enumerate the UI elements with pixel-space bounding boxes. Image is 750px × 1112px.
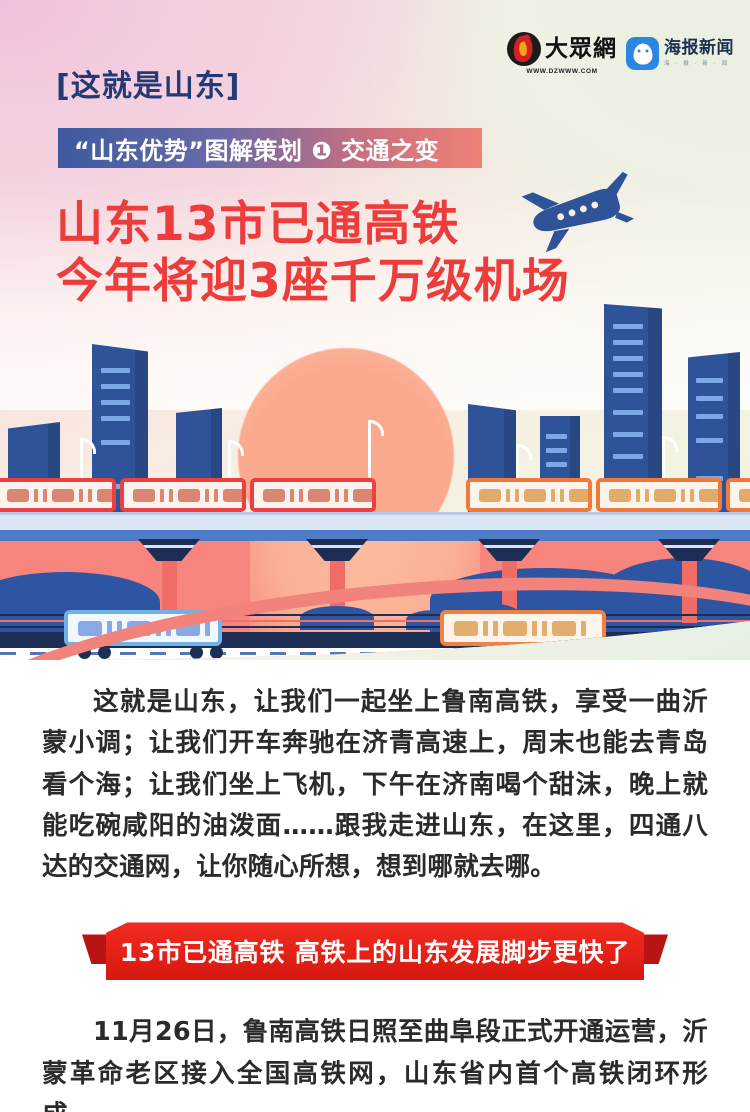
train-car (466, 478, 592, 512)
paragraph-news: 11月26日，鲁南高铁日照至曲阜段正式开通运营，沂蒙革命老区接入全国高铁网，山东… (42, 1012, 708, 1112)
seal-app-icon (626, 37, 659, 70)
flame-circle-icon (507, 32, 541, 66)
logo-bar: 大眾網 WWW.DZWWW.COM 海报新闻 海 · 报 · 新 · 闻 (507, 32, 734, 75)
page-title: 山东13市已通高铁 今年将迎3座千万级机场 (56, 196, 570, 311)
train-car (596, 478, 722, 512)
train-car (726, 478, 750, 512)
article-body: 这就是山东，让我们一起坐上鲁南高铁，享受一曲沂蒙小调；让我们开车奔驰在济青高速上… (0, 660, 750, 1112)
paragraph-intro: 这就是山东，让我们一起坐上鲁南高铁，享受一曲沂蒙小调；让我们开车奔驰在济青高速上… (42, 682, 708, 888)
train-car (0, 478, 116, 512)
logo-dzwww-name: 大眾網 (545, 38, 617, 61)
logo-haibao[interactable]: 海报新闻 海 · 报 · 新 · 闻 (626, 37, 734, 70)
infographic-page: 大眾網 WWW.DZWWW.COM 海报新闻 海 · 报 · 新 · 闻 [这就… (0, 0, 750, 1112)
headline-line-1: 山东13市已通高铁 (56, 196, 570, 253)
series-ribbon: “山东优势”图解策划 ❶ 交通之变 (58, 128, 482, 168)
lower-viaduct-scene (0, 528, 750, 660)
logo-haibao-name: 海报新闻 (664, 40, 734, 58)
series-ribbon-label: “山东优势”图解策划 ❶ 交通之变 (58, 131, 439, 166)
logo-dzwww-url: WWW.DZWWW.COM (526, 68, 597, 75)
logo-dzwww[interactable]: 大眾網 WWW.DZWWW.COM (507, 32, 617, 75)
upper-railway (0, 470, 750, 530)
section-banner-label: 13市已通高铁 高铁上的山东发展脚步更快了 (120, 933, 630, 969)
eyebrow-label: [这就是山东] (56, 72, 240, 102)
logo-haibao-subtitle: 海 · 报 · 新 · 闻 (664, 59, 734, 67)
track-deck (0, 512, 750, 530)
train-car (120, 478, 246, 512)
headline-line-2: 今年将迎3座千万级机场 (56, 253, 570, 310)
train-car (250, 478, 376, 512)
hero-section: 大眾網 WWW.DZWWW.COM 海报新闻 海 · 报 · 新 · 闻 [这就… (0, 0, 750, 660)
section-banner: 13市已通高铁 高铁上的山东发展脚步更快了 (84, 922, 666, 980)
